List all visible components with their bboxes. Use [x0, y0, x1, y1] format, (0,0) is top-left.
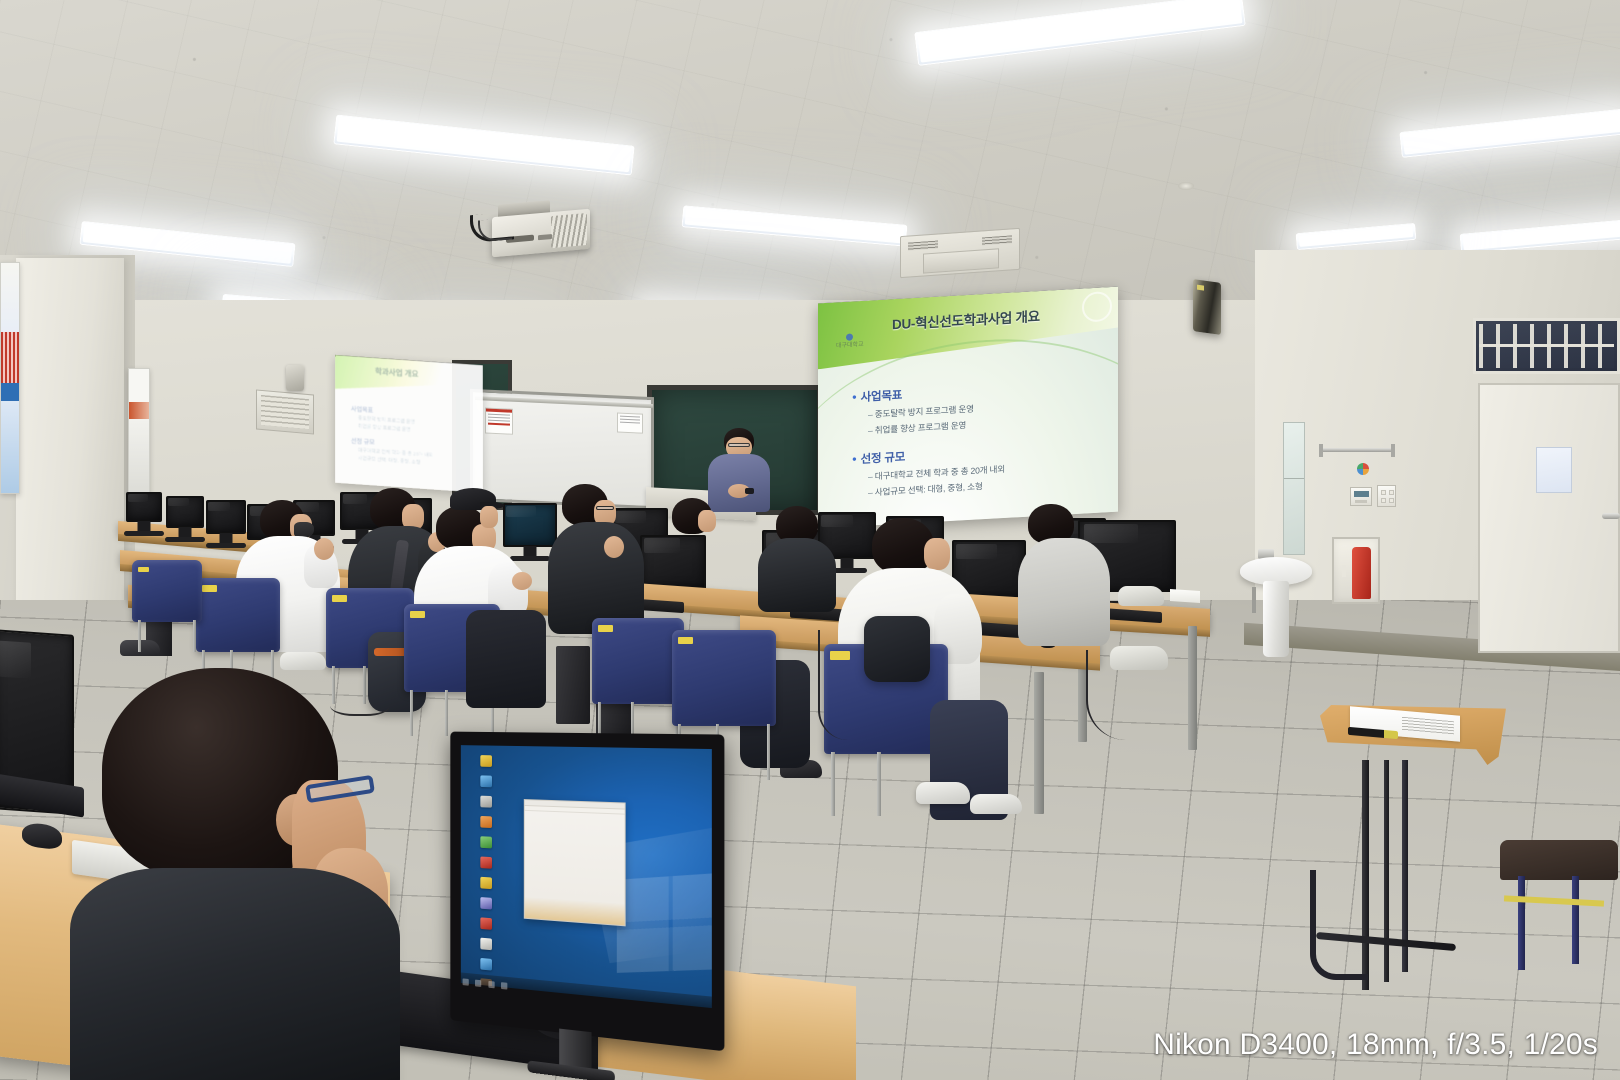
desk-leg — [1034, 672, 1044, 814]
floor-cable — [818, 630, 862, 740]
smoke-detector — [1178, 182, 1194, 190]
shoe — [916, 782, 970, 804]
presenter — [704, 428, 776, 512]
sink-pipe — [1252, 587, 1256, 613]
backpack — [864, 616, 930, 682]
shoe — [1118, 586, 1164, 606]
desktop-icon[interactable] — [480, 917, 492, 930]
open-application-window[interactable] — [524, 799, 626, 926]
desktop-icon[interactable] — [480, 897, 492, 909]
chair-tag — [332, 595, 347, 602]
university-logo: 대구대학교 — [836, 333, 864, 350]
presentation-slide: 대구대학교 DU-혁신선도학과사업 개요 사업목표 중도탈락 방지 프로그램 운… — [818, 287, 1118, 529]
classroom-chair[interactable] — [672, 630, 776, 726]
computer-monitor — [166, 496, 204, 528]
classroom-chair[interactable] — [592, 618, 684, 704]
fire-extinguisher-cabinet[interactable] — [1332, 537, 1380, 604]
ceiling-air-conditioner — [900, 228, 1020, 278]
glasses-icon — [596, 506, 614, 510]
presentation-slide-side: 학과사업 개요 사업목표 중도탈락 방지 프로그램 운영 취업률 향상 프로그램… — [335, 355, 483, 493]
chair-tag — [202, 585, 217, 592]
wall-speaker-left — [286, 365, 304, 391]
presenter-torso — [708, 454, 770, 512]
wooden-lectern — [1320, 705, 1506, 765]
light-switch-panel[interactable] — [1377, 485, 1396, 507]
student-hand — [512, 572, 532, 590]
taskbar-item[interactable] — [501, 982, 507, 989]
computer-monitor — [126, 492, 162, 522]
foreground-student-torso — [70, 868, 400, 1080]
floor-cable — [1086, 650, 1156, 740]
classroom-door[interactable] — [1478, 383, 1620, 653]
student-torso — [758, 538, 836, 612]
student-hand — [604, 536, 624, 558]
logo-label: 대구대학교 — [836, 342, 864, 350]
fire-extinguisher — [1352, 547, 1371, 599]
wall-mirror — [1283, 422, 1305, 555]
slide-section: 선정 규모 대구대학교 전체 학과 중 총 20개 내외 사업규모 선택: 대형… — [852, 438, 1102, 500]
wall-poster — [0, 262, 20, 494]
whiteboard-notice — [617, 412, 643, 433]
desktop-icon[interactable] — [480, 958, 492, 971]
shoe — [970, 794, 1022, 814]
slide-body: 사업목표 중도탈락 방지 프로그램 운영 취업률 향상 프로그램 운영 선정 규… — [852, 376, 1102, 514]
wall-sink — [1240, 549, 1312, 659]
stool — [1500, 840, 1620, 970]
desktop-icon-column[interactable] — [475, 755, 526, 1008]
glasses-icon — [728, 443, 750, 447]
windows-desktop[interactable] — [461, 745, 712, 1008]
wall-air-vent — [256, 389, 314, 434]
desktop-icon[interactable] — [480, 755, 492, 767]
towel-bar — [1320, 448, 1394, 452]
whiteboard-rail — [475, 396, 653, 408]
desktop-icon[interactable] — [480, 796, 492, 808]
classroom-chair[interactable] — [132, 560, 202, 622]
student-face — [924, 538, 950, 570]
desk-leg — [1188, 626, 1197, 750]
computer-monitor — [640, 535, 706, 590]
corner-wall-speaker — [1193, 279, 1221, 335]
desktop-icon[interactable] — [480, 856, 492, 868]
door-transom-window — [1473, 318, 1620, 374]
student — [440, 488, 512, 578]
chair-tag — [678, 637, 693, 644]
student-face — [698, 510, 716, 532]
student-face — [480, 506, 498, 528]
wall-poster — [128, 368, 150, 496]
chair-tag — [138, 567, 149, 572]
ceiling-mounted-projector — [492, 209, 590, 266]
slide-body-side: 사업목표 중도탈락 방지 프로그램 운영 취업률 향상 프로그램 운영 선정 규… — [351, 406, 475, 471]
thermostat-panel[interactable] — [1350, 487, 1372, 506]
desktop-icon[interactable] — [480, 877, 492, 889]
chair-tag — [598, 625, 613, 632]
classroom-photo: 대구대학교 DU-혁신선도학과사업 개요 사업목표 중도탈락 방지 프로그램 운… — [0, 0, 1620, 1080]
globe-sticker — [1357, 463, 1369, 475]
desktop-icon[interactable] — [480, 816, 492, 828]
notebook — [1170, 589, 1200, 603]
door-handle[interactable] — [1602, 513, 1620, 519]
foreground-computer-monitor[interactable] — [450, 732, 724, 1052]
whiteboard-notice — [485, 408, 513, 435]
windows-logo-watermark — [616, 872, 711, 972]
lectern-frame — [1348, 760, 1468, 990]
foreground-student — [62, 668, 402, 1080]
chair-tag — [410, 611, 425, 618]
student-legs — [466, 610, 546, 708]
door-notice — [1536, 447, 1572, 493]
wristwatch — [745, 488, 754, 494]
desktop-icon[interactable] — [480, 836, 492, 848]
desktop-icon[interactable] — [480, 938, 492, 951]
sink-pedestal — [1263, 581, 1289, 657]
classroom-chair[interactable] — [196, 578, 280, 652]
projection-screen-side: 학과사업 개요 사업목표 중도탈락 방지 프로그램 운영 취업률 향상 프로그램… — [335, 355, 483, 493]
student-hand — [314, 538, 334, 560]
projection-screen-main: 대구대학교 DU-혁신선도학과사업 개요 사업목표 중도탈락 방지 프로그램 운… — [818, 287, 1118, 529]
taskbar-item[interactable] — [475, 980, 481, 987]
desktop-icon[interactable] — [480, 775, 492, 787]
taskbar-item[interactable] — [488, 981, 494, 988]
camera-info-watermark: Nikon D3400, 18mm, f/3.5, 1/20s — [1153, 1028, 1598, 1062]
taskbar-item[interactable] — [463, 978, 469, 985]
student-torso — [1018, 538, 1110, 646]
